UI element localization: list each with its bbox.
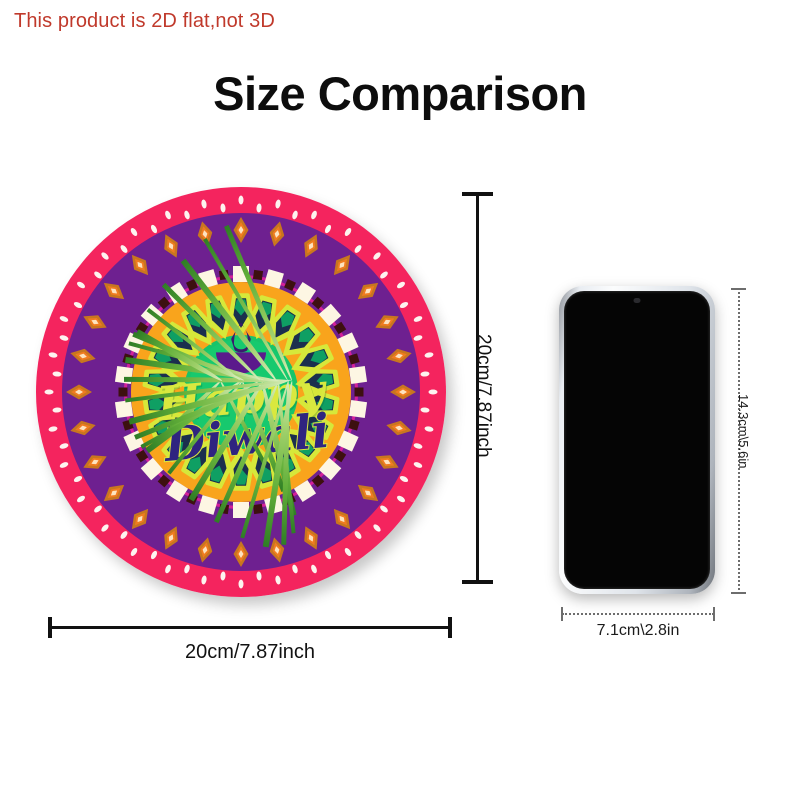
phone-width-cap-right [713, 607, 715, 621]
product-width-cap-right [448, 617, 452, 638]
phone-width-cap-left [561, 607, 563, 621]
phone-width-line [562, 613, 714, 615]
palm-frond-decoration [0, 150, 202, 420]
phone-camera-icon [634, 298, 641, 303]
product-width-cap-left [48, 617, 52, 638]
phone-height-label: 14.3cm\5.6in [736, 394, 751, 468]
size-comparison-graphic: This product is 2D flat,not 3D Size Comp… [0, 0, 800, 800]
product-height-label: 20cm/7.87inch [472, 334, 494, 458]
phone-height-cap-bottom [731, 592, 746, 594]
product-height-cap-bottom [462, 580, 493, 584]
page-title: Size Comparison [0, 66, 800, 121]
product-notice-text: This product is 2D flat,not 3D [14, 10, 275, 33]
phone-height-cap-top [731, 288, 746, 290]
product-width-line [50, 626, 450, 629]
product-width-label: 20cm/7.87inch [50, 641, 450, 664]
phone-screen [564, 291, 710, 589]
product-height-cap-top [462, 192, 493, 196]
smartphone-reference [559, 286, 715, 594]
phone-width-label: 7.1cm\2.8in [554, 622, 722, 640]
